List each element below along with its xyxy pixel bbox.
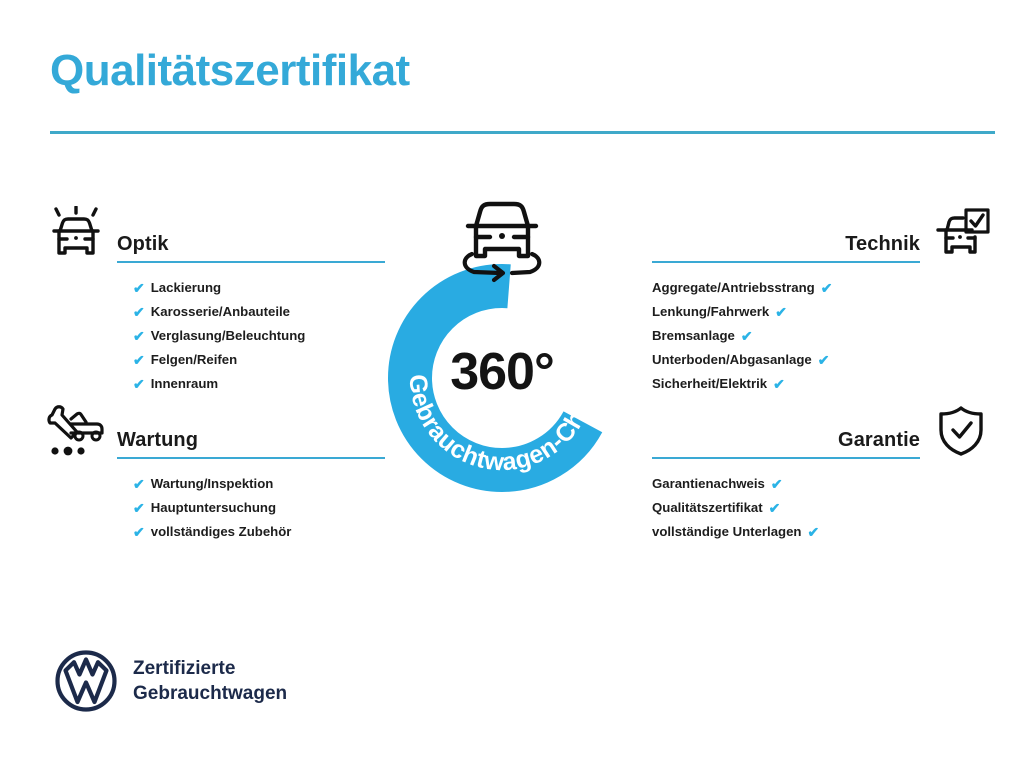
list-item-label: Qualitätszertifikat bbox=[652, 496, 763, 520]
section-garantie-underline bbox=[652, 457, 920, 459]
list-item-label: Karosserie/Anbauteile bbox=[151, 300, 290, 324]
page-title: Qualitätszertifikat bbox=[50, 46, 410, 96]
gebrauchtwagen-check-badge: Gebrauchtwagen-Check 360° bbox=[374, 250, 630, 506]
section-technik-underline bbox=[652, 261, 920, 263]
list-item: ✔Felgen/Reifen bbox=[133, 348, 385, 372]
section-wartung-titlewrap: Wartung bbox=[117, 402, 385, 459]
list-item: ✔Innenraum bbox=[133, 372, 385, 396]
section-technik-titlewrap: Technik bbox=[652, 206, 920, 263]
check-icon: ✔ bbox=[133, 305, 145, 319]
section-optik-underline bbox=[117, 261, 385, 263]
wrench-car-service-icon bbox=[45, 402, 107, 460]
list-item: ✔Lenkung/Fahrwerk bbox=[652, 300, 984, 324]
car-front-checkbox-icon bbox=[930, 206, 992, 264]
check-icon: ✔ bbox=[769, 501, 781, 515]
section-garantie-title: Garantie bbox=[652, 430, 920, 451]
list-item: ✔Verglasung/Beleuchtung bbox=[133, 324, 385, 348]
section-garantie: Garantie ✔Garantienachweis ✔Qualitätszer… bbox=[652, 402, 992, 544]
section-garantie-header: Garantie bbox=[652, 402, 992, 460]
list-item: ✔Aggregate/Antriebsstrang bbox=[652, 276, 984, 300]
badge-value: 360° bbox=[374, 342, 630, 402]
list-item-label: Wartung/Inspektion bbox=[151, 472, 274, 496]
list-item-label: Bremsanlage bbox=[652, 324, 735, 348]
section-wartung-header: Wartung bbox=[45, 402, 385, 460]
list-item: ✔Sicherheit/Elektrik bbox=[652, 372, 984, 396]
list-item-label: Lenkung/Fahrwerk bbox=[652, 300, 769, 324]
check-icon: ✔ bbox=[818, 353, 830, 367]
check-icon: ✔ bbox=[808, 525, 820, 539]
section-technik-title: Technik bbox=[652, 234, 920, 255]
list-item: ✔Wartung/Inspektion bbox=[133, 472, 385, 496]
list-item-label: vollständige Unterlagen bbox=[652, 520, 802, 544]
list-item-label: Innenraum bbox=[151, 372, 218, 396]
section-optik: Optik ✔Lackierung ✔Karosserie/Anbauteile… bbox=[45, 206, 385, 396]
list-item-label: Hauptuntersuchung bbox=[151, 496, 276, 520]
list-item: ✔Karosserie/Anbauteile bbox=[133, 300, 385, 324]
check-icon: ✔ bbox=[771, 477, 783, 491]
section-garantie-list: ✔Garantienachweis ✔Qualitätszertifikat ✔… bbox=[652, 472, 992, 544]
check-icon: ✔ bbox=[133, 281, 145, 295]
section-wartung-underline bbox=[117, 457, 385, 459]
section-technik: Technik ✔Aggregate/Antriebsstrang ✔Lenku… bbox=[652, 206, 992, 396]
list-item-label: Verglasung/Beleuchtung bbox=[151, 324, 306, 348]
vw-certified-label: Zertifizierte Gebrauchtwagen bbox=[133, 656, 287, 706]
check-icon: ✔ bbox=[133, 377, 145, 391]
check-icon: ✔ bbox=[821, 281, 833, 295]
list-item: ✔Bremsanlage bbox=[652, 324, 984, 348]
section-garantie-titlewrap: Garantie bbox=[652, 402, 920, 459]
check-icon: ✔ bbox=[775, 305, 787, 319]
list-item: ✔Unterboden/Abgasanlage bbox=[652, 348, 984, 372]
list-item-label: Sicherheit/Elektrik bbox=[652, 372, 767, 396]
check-icon: ✔ bbox=[133, 501, 145, 515]
shield-check-icon bbox=[930, 402, 992, 460]
check-icon: ✔ bbox=[133, 329, 145, 343]
list-item-label: vollständiges Zubehör bbox=[151, 520, 292, 544]
check-icon: ✔ bbox=[133, 525, 145, 539]
list-item: ✔Hauptuntersuchung bbox=[133, 496, 385, 520]
section-wartung-list: ✔Wartung/Inspektion ✔Hauptuntersuchung ✔… bbox=[45, 472, 385, 544]
check-icon: ✔ bbox=[741, 329, 753, 343]
list-item-label: Unterboden/Abgasanlage bbox=[652, 348, 812, 372]
section-optik-header: Optik bbox=[45, 206, 385, 264]
section-optik-list: ✔Lackierung ✔Karosserie/Anbauteile ✔Verg… bbox=[45, 276, 385, 396]
vw-certified-logo: Zertifizierte Gebrauchtwagen bbox=[55, 650, 287, 712]
list-item-label: Aggregate/Antriebsstrang bbox=[652, 276, 815, 300]
section-technik-header: Technik bbox=[652, 206, 992, 264]
section-wartung-title: Wartung bbox=[117, 430, 385, 451]
check-icon: ✔ bbox=[133, 477, 145, 491]
section-wartung: Wartung ✔Wartung/Inspektion ✔Hauptunters… bbox=[45, 402, 385, 544]
car-front-shine-icon bbox=[45, 206, 107, 264]
section-technik-list: ✔Aggregate/Antriebsstrang ✔Lenkung/Fahrw… bbox=[652, 276, 992, 396]
check-icon: ✔ bbox=[773, 377, 785, 391]
list-item: ✔Garantienachweis bbox=[652, 472, 984, 496]
list-item-label: Lackierung bbox=[151, 276, 221, 300]
title-divider bbox=[50, 131, 995, 134]
car-front-rotate-icon bbox=[452, 196, 552, 288]
vw-logo bbox=[55, 650, 117, 712]
list-item: ✔Qualitätszertifikat bbox=[652, 496, 984, 520]
section-optik-title: Optik bbox=[117, 234, 385, 255]
list-item-label: Garantienachweis bbox=[652, 472, 765, 496]
list-item: ✔Lackierung bbox=[133, 276, 385, 300]
list-item: ✔vollständiges Zubehör bbox=[133, 520, 385, 544]
list-item: ✔vollständige Unterlagen bbox=[652, 520, 984, 544]
list-item-label: Felgen/Reifen bbox=[151, 348, 237, 372]
section-optik-titlewrap: Optik bbox=[117, 206, 385, 263]
check-icon: ✔ bbox=[133, 353, 145, 367]
